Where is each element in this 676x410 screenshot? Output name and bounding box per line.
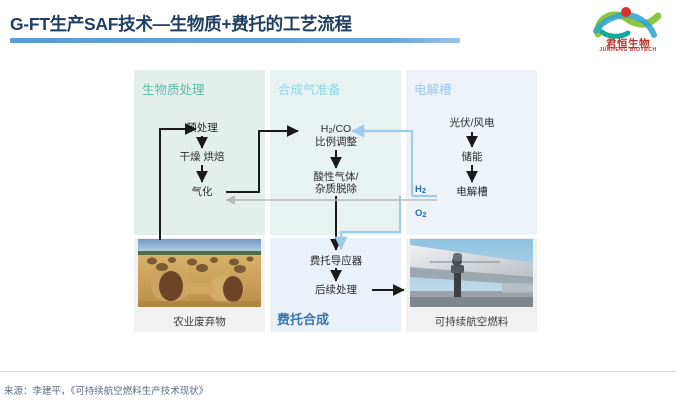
section-title-syngas: 合成气准备 [278,79,341,98]
caption-agricultural-waste: 农业废弃物 [134,314,265,329]
node-gasification: 气化 [180,187,224,199]
node-pv-wind: 光伏/风电 [433,118,511,130]
node-acid-line2: 杂质脱除 [315,183,357,195]
label-hydrogen-subscript: 2 [422,186,426,195]
node-h2co-line1-suffix: /CO [333,123,352,135]
section-title-biomass: 生物质处理 [142,79,205,98]
title-underline [10,38,460,43]
node-storage: 储能 [446,152,498,164]
node-pretreatment: 预处理 [175,123,229,135]
node-electrolyzer: 电解槽 [440,187,504,199]
node-ft-reactor: 费托导应器 [298,256,374,268]
footer-divider [0,371,676,372]
label-hydrogen-symbol: H [415,184,422,195]
slide-root: G-FT生产SAF技术—生物质+费托的工艺流程 君恒生物 JUNHENG BIO… [0,0,676,410]
source-note: 来源：李建平，《可持续航空燃料生产技术现状》 [4,383,208,397]
label-oxygen-subscript: 2 [422,210,426,219]
node-drying-roasting: 干燥 烘焙 [163,152,241,164]
node-acid-gas-removal: 酸性气体/ 杂质脱除 [296,172,376,195]
label-oxygen: O2 [415,208,427,219]
node-post-processing: 后续处理 [304,285,368,297]
aircraft-refueling-photo [410,239,533,307]
caption-saf: 可持续航空燃料 [406,314,537,329]
logo-name-en: JUNHENG BIOTECH [588,47,668,53]
label-hydrogen: H2 [415,184,426,195]
page-title: G-FT生产SAF技术—生物质+费托的工艺流程 [10,11,352,36]
node-h2co-line2: 比例调整 [315,136,357,148]
node-acid-line1: 酸性气体/ [314,171,359,183]
section-title-ft-synthesis: 费托合成 [277,309,329,328]
hay-bales-field-photo [138,239,261,307]
section-title-electrolysis: 电解槽 [414,79,452,98]
node-h2co-ratio: H2/CO 比例调整 [305,124,367,148]
